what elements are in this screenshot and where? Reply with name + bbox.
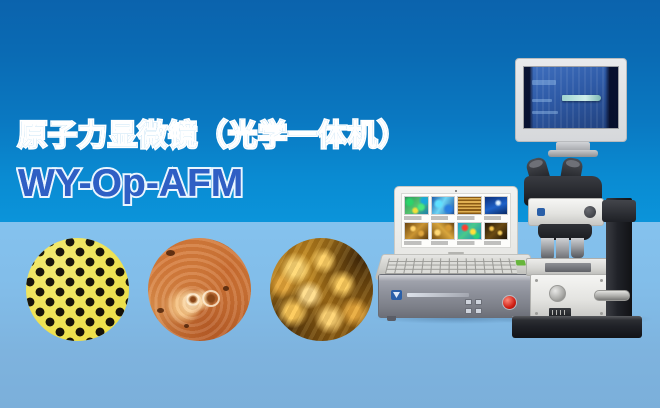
product-banner: 原子力显微镜（光学一体机） 原子力显微镜（光学一体机） WY-Op-AFM WY… bbox=[0, 0, 660, 408]
controller-indicator-leds bbox=[465, 299, 482, 314]
scan-thumbnail bbox=[431, 222, 456, 246]
headline-group: 原子力显微镜（光学一体机） 原子力显微镜（光学一体机） WY-Op-AFM WY… bbox=[18, 116, 408, 208]
controller-foot bbox=[387, 316, 396, 321]
led-indicator bbox=[475, 308, 482, 314]
monitor-bezel-bottom bbox=[516, 129, 626, 141]
sample-image-grain-structure: 晶粒结构 bbox=[270, 238, 373, 341]
monitor-feature bbox=[532, 80, 556, 84]
topography-pit bbox=[157, 308, 164, 313]
product-title-cn-holder: 原子力显微镜（光学一体机） 原子力显微镜（光学一体机） bbox=[18, 116, 408, 156]
housing-screw bbox=[600, 279, 603, 282]
scan-thumbnail bbox=[431, 196, 456, 220]
scan-image-2 bbox=[431, 196, 456, 215]
afm-head-adjust-knob[interactable] bbox=[584, 206, 596, 218]
topography-pit bbox=[184, 324, 189, 328]
sample-image-nanopore-array: 纳米孔阵列 bbox=[26, 238, 129, 341]
housing-screw bbox=[600, 312, 603, 315]
scan-caption-3 bbox=[457, 216, 482, 220]
scan-thumbnail bbox=[457, 222, 482, 246]
controller-label bbox=[407, 293, 469, 297]
stage-slot bbox=[545, 263, 591, 272]
afm-scanner-head bbox=[528, 198, 604, 226]
housing-screw bbox=[535, 279, 538, 282]
scan-image-7 bbox=[457, 222, 482, 241]
monitor-screen bbox=[523, 66, 619, 129]
led-indicator bbox=[465, 308, 472, 314]
laptop-screen bbox=[401, 193, 511, 248]
scan-caption-7 bbox=[457, 241, 482, 245]
topography-crater bbox=[186, 293, 200, 306]
cantilever-probe-icon bbox=[562, 95, 601, 101]
grain-texture bbox=[270, 238, 373, 341]
product-model-holder: WY-Op-AFM WY-Op-AFM bbox=[18, 160, 408, 208]
scan-thumbnail bbox=[404, 222, 429, 246]
led-indicator bbox=[465, 299, 472, 305]
focus-knob[interactable] bbox=[594, 290, 630, 301]
topography-pit bbox=[166, 250, 175, 256]
monitor-pivot-mount bbox=[548, 150, 598, 157]
topography-pit bbox=[223, 286, 229, 291]
microscope-monitor bbox=[515, 58, 627, 142]
brand-logo-icon bbox=[391, 290, 402, 300]
granite-base bbox=[512, 316, 642, 338]
monitor-feature bbox=[532, 111, 558, 114]
base-edge-highlight bbox=[512, 316, 642, 320]
pillar-cap bbox=[602, 200, 636, 222]
scan-image-5 bbox=[404, 222, 429, 241]
optical-afm-microscope bbox=[498, 58, 648, 320]
scan-caption-5 bbox=[404, 241, 429, 245]
nanopore-shading bbox=[26, 238, 129, 341]
webcam-icon bbox=[455, 190, 457, 192]
housing-screw bbox=[535, 312, 538, 315]
objective-lens bbox=[571, 238, 584, 258]
scan-caption-2 bbox=[431, 216, 456, 220]
stage-adjust-knob[interactable] bbox=[549, 285, 566, 302]
scan-image-6 bbox=[431, 222, 456, 241]
objective-lens bbox=[541, 238, 554, 260]
product-title-cn: 原子力显微镜（光学一体机） bbox=[18, 116, 408, 156]
topography-ripples bbox=[148, 238, 251, 341]
monitor-feature bbox=[532, 99, 553, 102]
sample-image-surface-topography: 表面形貌 bbox=[148, 238, 251, 341]
product-model: WY-Op-AFM bbox=[18, 160, 243, 208]
topography-crater bbox=[202, 290, 220, 307]
led-indicator bbox=[475, 299, 482, 305]
scan-image-3 bbox=[457, 196, 482, 215]
scan-caption-1 bbox=[404, 216, 429, 220]
scan-thumbnail bbox=[457, 196, 482, 220]
scan-caption-6 bbox=[431, 241, 456, 245]
brand-logo-icon bbox=[537, 208, 545, 216]
